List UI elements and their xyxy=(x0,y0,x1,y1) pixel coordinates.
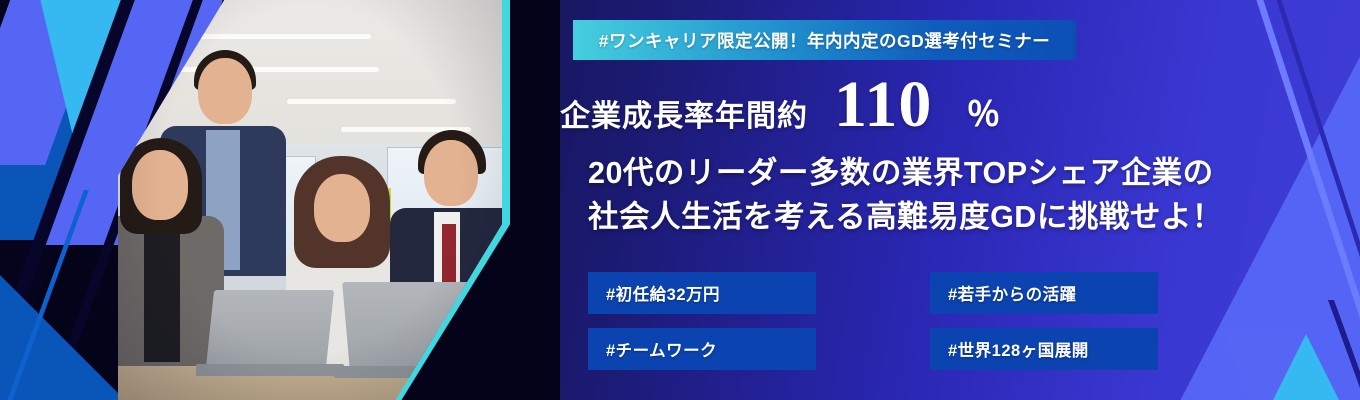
subheadline-line-2: 社会人生活を考える高難易度GDに挑戦せよ！ xyxy=(588,196,1360,240)
photo-vignette xyxy=(118,0,502,400)
seminar-tag: #ワンキャリア限定公開！年内内定のGD選考付セミナー xyxy=(573,20,1076,60)
hashtag-chip[interactable]: #チームワーク xyxy=(588,328,816,370)
photo-scene xyxy=(118,0,502,400)
hashtag-chip-label: #初任給32万円 xyxy=(606,281,720,305)
hashtag-chip[interactable]: #若手からの活躍 xyxy=(930,272,1158,314)
headline: 企業成長率年間約 110 ％ xyxy=(560,72,1360,142)
subheadline: 20代のリーダー多数の業界TOPシェア企業の 社会人生活を考える高難易度GDに挑… xyxy=(588,152,1360,240)
headline-prefix: 企業成長率年間約 xyxy=(560,91,808,135)
hashtag-chip-label: #チームワーク xyxy=(606,337,717,361)
hashtag-chip-label: #世界128ヶ国展開 xyxy=(948,337,1089,361)
hashtag-chip-group: #初任給32万円 #若手からの活躍 #チームワーク #世界128ヶ国展開 xyxy=(588,272,1208,370)
headline-unit: ％ xyxy=(966,87,1000,136)
content-column: #ワンキャリア限定公開！年内内定のGD選考付セミナー 企業成長率年間約 110 … xyxy=(560,0,1360,400)
hashtag-chip[interactable]: #世界128ヶ国展開 xyxy=(930,328,1158,370)
recruitment-banner: #ワンキャリア限定公開！年内内定のGD選考付セミナー 企業成長率年間約 110 … xyxy=(0,0,1360,400)
team-photo xyxy=(118,0,502,400)
team-photo-frame xyxy=(118,0,510,400)
hashtag-chip-label: #若手からの活躍 xyxy=(948,281,1077,305)
seminar-tag-label: #ワンキャリア限定公開！年内内定のGD選考付セミナー xyxy=(599,28,1050,53)
headline-number: 110 xyxy=(834,72,932,138)
hashtag-chip[interactable]: #初任給32万円 xyxy=(588,272,816,314)
subheadline-line-1: 20代のリーダー多数の業界TOPシェア企業の xyxy=(588,152,1360,196)
